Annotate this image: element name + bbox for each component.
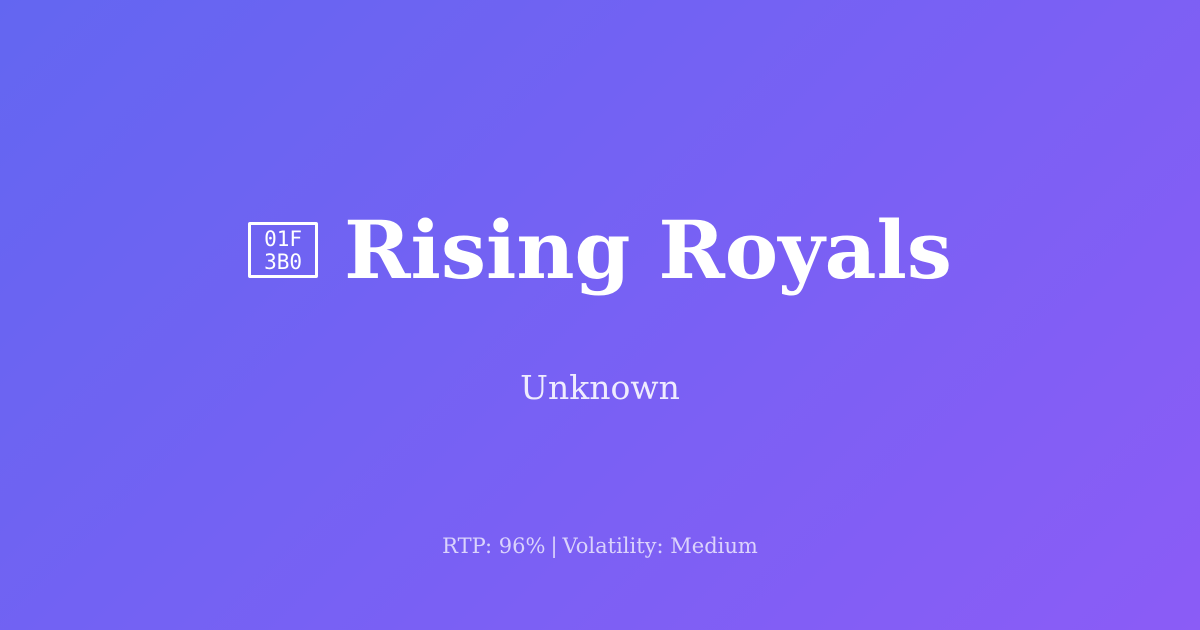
slot-machine-icon-codepoint-high: 01F <box>264 228 302 251</box>
volatility-value: Volatility: Medium <box>563 534 758 558</box>
og-card: 01F 3B0 Rising Royals Unknown RTP: 96%|V… <box>0 0 1200 630</box>
title-row: 01F 3B0 Rising Royals <box>248 204 952 296</box>
page-title: Rising Royals <box>344 204 952 296</box>
game-meta: RTP: 96%|Volatility: Medium <box>0 532 1200 560</box>
provider-label: Unknown <box>520 368 680 408</box>
slot-machine-icon: 01F 3B0 <box>248 222 318 278</box>
rtp-value: RTP: 96% <box>442 534 545 558</box>
slot-machine-icon-codepoint-low: 3B0 <box>264 251 302 274</box>
meta-separator: | <box>545 534 562 558</box>
